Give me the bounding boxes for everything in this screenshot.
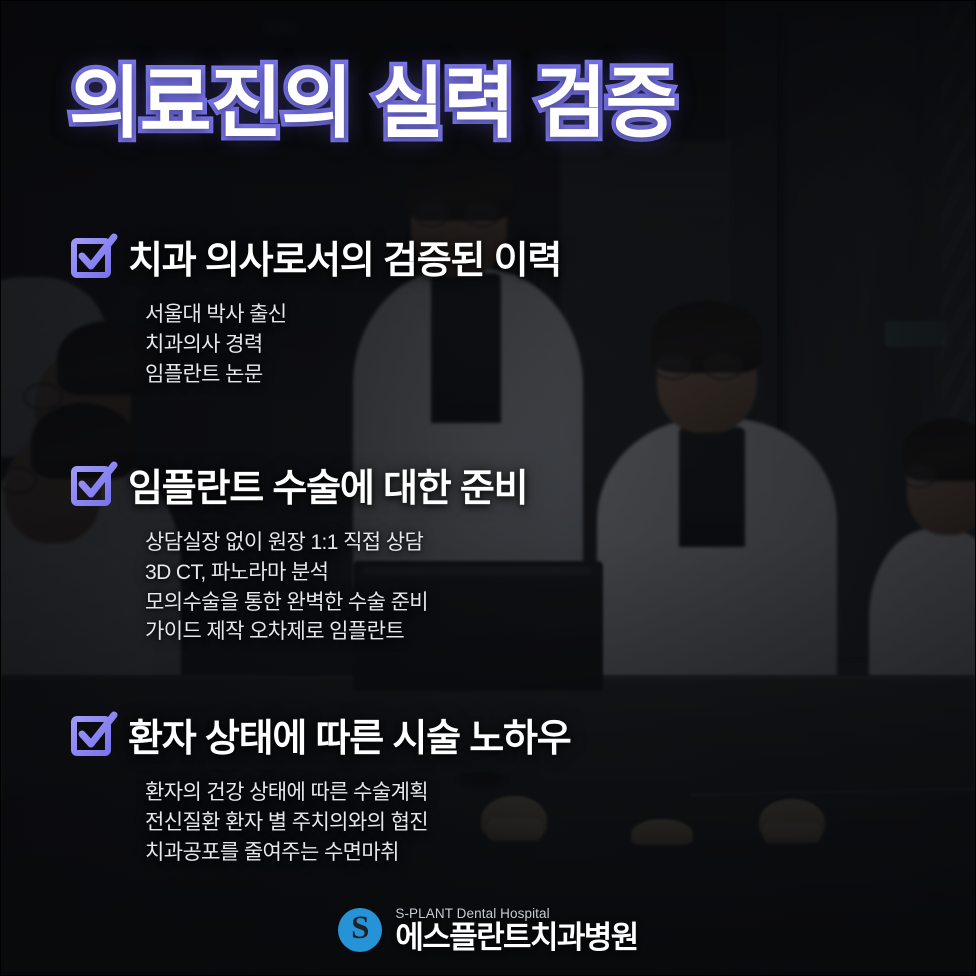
list-item: 모의수술을 통한 완벽한 수술 준비 (145, 588, 527, 618)
section-bullet-list: 서울대 박사 출신 치과의사 경력 임플란트 논문 (145, 300, 561, 389)
brand-name-korean: 에스플란트치과병원 (395, 922, 637, 953)
page-title: 의료진의 실력 검증 (69, 62, 676, 145)
checkbox-check-icon (69, 464, 110, 505)
list-item: 상담실장 없이 원장 1:1 직접 상담 (145, 528, 527, 558)
section-bullet-list: 환자의 건강 상태에 따른 수술계획 전신질환 환자 별 주치의와의 협진 치과… (145, 778, 571, 867)
s-plant-logo-icon: S (338, 908, 382, 952)
section-patient-condition-knowhow: 환자 상태에 따른 시술 노하우 환자의 건강 상태에 따른 수술계획 전신질환… (69, 707, 571, 867)
list-item: 가이드 제작 오차제로 임플란트 (145, 617, 527, 647)
logo-letter: S (351, 912, 369, 945)
list-item: 서울대 박사 출신 (145, 300, 561, 330)
section-verified-career: 치과 의사로서의 검증된 이력 서울대 박사 출신 치과의사 경력 임플란트 논… (69, 229, 561, 389)
section-surgery-preparation: 임플란트 수술에 대한 준비 상담실장 없이 원장 1:1 직접 상담 3D C… (69, 457, 527, 647)
brand-name-english: S-PLANT Dental Hospital (395, 906, 637, 921)
promotional-poster: 의료진의 실력 검증 치과 의사로서의 검증된 이력 (0, 0, 976, 976)
section-heading: 치과 의사로서의 검증된 이력 (128, 229, 561, 284)
checkbox-check-icon (69, 714, 110, 755)
brand-footer: S S-PLANT Dental Hospital 에스플란트치과병원 (1, 906, 975, 953)
checkbox-check-icon (69, 236, 110, 277)
list-item: 전신질환 환자 별 주치의와의 협진 (145, 808, 571, 838)
section-bullet-list: 상담실장 없이 원장 1:1 직접 상담 3D CT, 파노라마 분석 모의수술… (145, 528, 527, 647)
section-heading: 환자 상태에 따른 시술 노하우 (128, 707, 571, 762)
list-item: 임플란트 논문 (145, 360, 561, 390)
list-item: 치과의사 경력 (145, 330, 561, 360)
list-item: 환자의 건강 상태에 따른 수술계획 (145, 778, 571, 808)
list-item: 3D CT, 파노라마 분석 (145, 558, 527, 588)
section-heading: 임플란트 수술에 대한 준비 (128, 457, 527, 512)
list-item: 치과공포를 줄여주는 수면마취 (145, 838, 571, 868)
